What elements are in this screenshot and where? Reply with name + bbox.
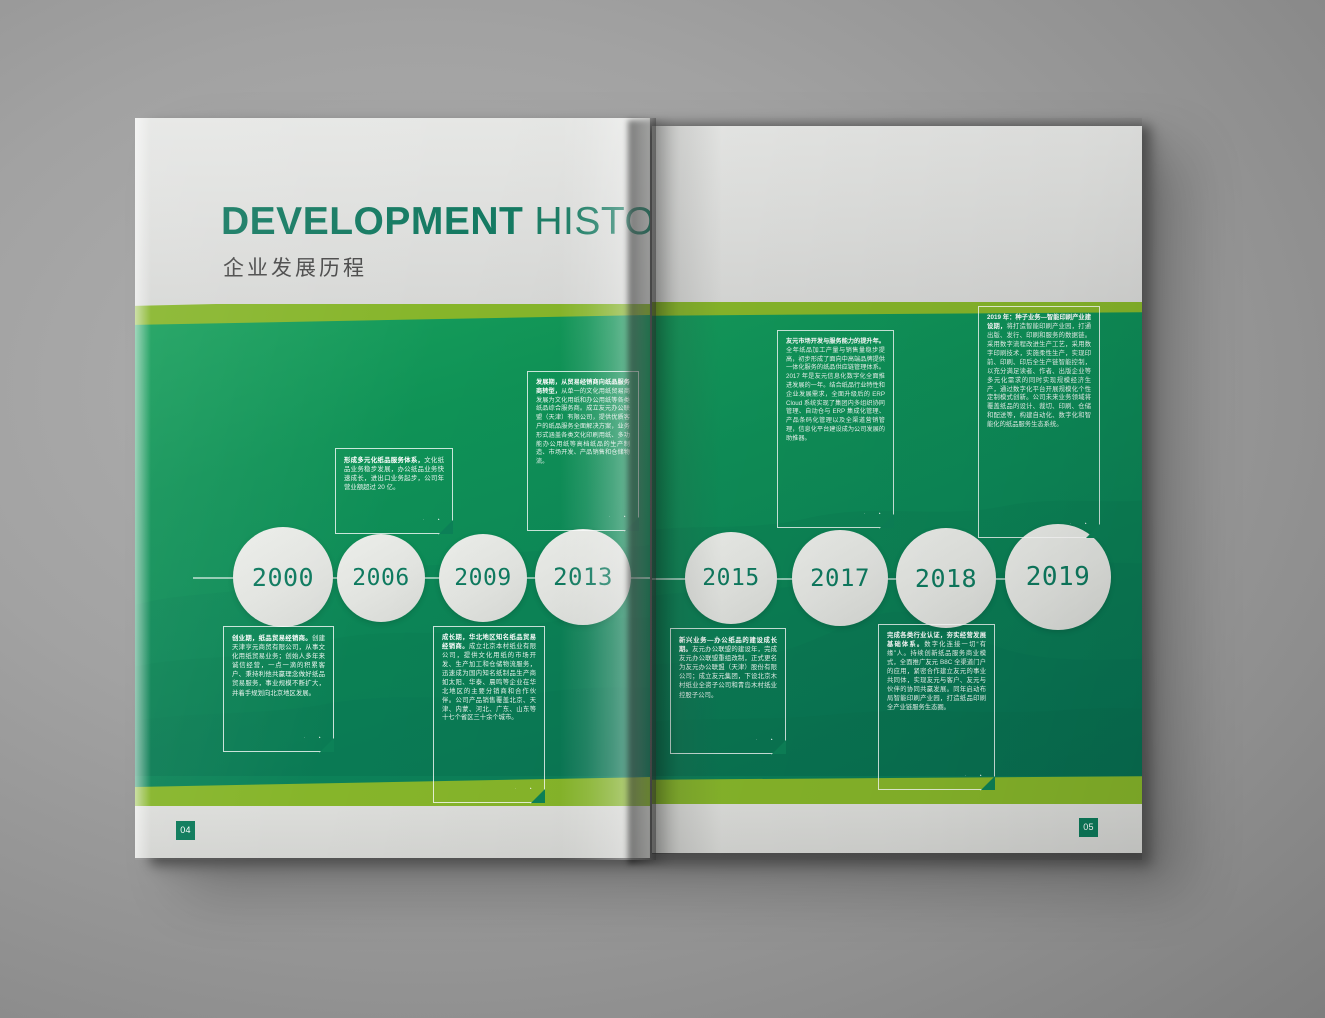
timeline-year-2015[interactable]: 2015 [685,532,777,624]
timeline-year-2019-label: 2019 [1026,562,1091,592]
page-number-right: 05 [1079,818,1098,837]
callout-2015-body: 友元办公联盟的建设年，完成友元办公联盟重组改制，正式更名为友元办公联盟（天津）股… [679,646,777,698]
callout-2006-fold-corner [531,789,545,803]
right-page: 05 2015 2017 2018 2019 友元市场开发与服务能力的提升年。全… [652,126,1142,853]
callout-2000-fold-corner [320,738,334,752]
callout-2009: 形成多元化纸品服务体系，文化纸品业务稳步发展，办公纸品业务快速成长，进出口业务起… [335,448,453,534]
callout-2019: 2019 年：种子业务—智能印刷产业建设期，将打造智能印刷产业园，打通出版、发行… [978,306,1100,538]
callout-2017-lead: 友元市场开发与服务能力的提升年。 [786,338,885,345]
callout-2015: 新兴业务—办公纸品的建设成长期。友元办公联盟的建设年，完成友元办公联盟重组改制，… [670,628,786,754]
callout-2013: 发展期，从贸易经销商向纸品服务商转型，从单一的文化用纸贸易商发展为文化用纸和办公… [527,371,639,531]
timeline-year-2017-label: 2017 [810,564,870,592]
callout-2013-fold-corner [625,517,639,531]
callout-2018-body: 数字化连接一切“有缘”人。持续创新纸品服务商业模式，全面推广友元 B8C 全渠道… [887,641,986,711]
timeline-year-2018-label: 2018 [915,564,977,593]
left-page-footer: 04 [135,806,650,858]
page-title-english-bold: DEVELOPMENT [221,200,523,243]
timeline-year-2006[interactable]: 2006 [337,534,425,622]
callout-2017: 友元市场开发与服务能力的提升年。全年纸品加工产量与销售量稳步提高，初步形成了面向… [777,330,894,528]
callout-2018-fold-corner [981,776,995,790]
timeline-year-2000[interactable]: 2000 [233,527,333,627]
timeline-year-2018[interactable]: 2018 [896,528,996,628]
timeline-year-2009-label: 2009 [454,565,511,591]
right-page-header [652,126,1142,312]
callout-2009-lead: 形成多元化纸品服务体系， [344,457,424,464]
callout-2015-fold-corner [772,740,786,754]
callout-2013-body: 从单一的文化用纸贸易商发展为文化用纸和办公用纸等各类纸品综合服务商。成立友元办公… [536,388,630,465]
timeline-year-2013-label: 2013 [553,563,613,591]
timeline-year-2000-label: 2000 [252,563,314,592]
callout-2018: 完成各类行业认证，夯实经营发展基础体系。数字化连接一切“有缘”人。持续创新纸品服… [878,624,995,790]
page-title-english: DEVELOPMENTHISTORY [221,200,650,244]
timeline-year-2017[interactable]: 2017 [792,530,888,626]
callout-2017-fold-corner [880,514,894,528]
callout-2019-body: 将打造智能印刷产业园，打通出版、发行、印刷和服务的数据链。采用数字流程改进生产工… [987,323,1091,428]
callout-2017-body: 全年纸品加工产量与销售量稳步提高，初步形成了面向中高端品牌提供一体化服务的纸品供… [786,347,885,442]
callout-2006: 成长期，华北地区知名纸品贸易经销商。成立北京本村纸业有限公司，提供文化用纸的市场… [433,626,545,803]
callout-2006-body: 成立北京本村纸业有限公司，提供文化用纸的市场开发、生产加工和仓储物流服务，迅速成… [442,643,536,722]
timeline-year-2013[interactable]: 2013 [535,529,631,625]
left-page: DEVELOPMENTHISTORY 企业发展历程 04 2000 [135,118,650,858]
page-title-chinese: 企业发展历程 [223,252,367,282]
timeline-year-2009[interactable]: 2009 [439,534,527,622]
brochure-spread: DEVELOPMENTHISTORY 企业发展历程 04 2000 [0,0,1325,1018]
callout-2000-body: 创建天津亨元商贸有限公司，从事文化用纸贸易业务；创始人多年来诚信经营，一点一滴的… [232,635,325,697]
right-page-footer: 05 [652,804,1142,853]
callout-2019-fold-corner [1086,524,1100,538]
page-number-left: 04 [176,821,195,840]
timeline-year-2006-label: 2006 [352,565,409,591]
callout-2000-lead: 创业期，纸品贸易经销商。 [232,635,312,642]
callout-2000: 创业期，纸品贸易经销商。创建天津亨元商贸有限公司，从事文化用纸贸易业务；创始人多… [223,626,334,752]
timeline-year-2015-label: 2015 [702,565,759,591]
page-title-english-thin: HISTORY [534,200,650,243]
timeline-year-2019[interactable]: 2019 [1005,524,1111,630]
callout-2009-fold-corner [439,520,453,534]
